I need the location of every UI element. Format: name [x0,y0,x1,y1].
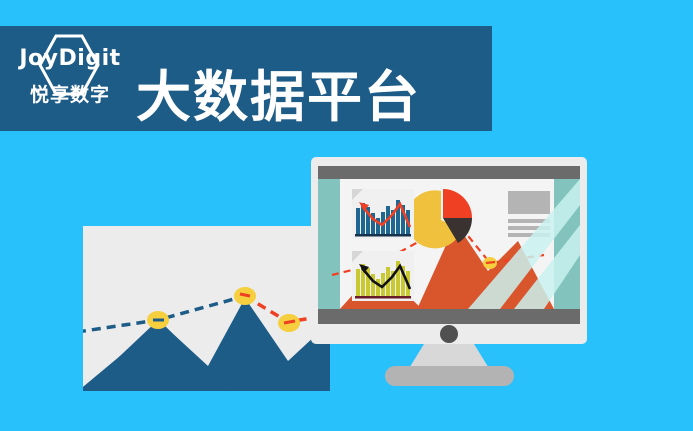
desktop-monitor [311,157,587,344]
image-placeholder [508,191,550,214]
olive-bar-chart-graphic [352,251,414,301]
baseline [355,296,411,299]
olive-bar-chart-card [352,251,414,301]
pie-chart [410,187,472,249]
page-title: 大数据平台 [136,70,421,125]
text-line [508,233,550,237]
monitor-top-bezel [318,166,580,179]
logo-subtitle: 悦享数字 [14,86,126,105]
monitor-screen [318,179,580,309]
text-line [508,226,550,230]
pie-slice-red [443,189,472,218]
header-banner: JoyDigit 悦享数字 大数据平台 [0,26,492,131]
monitor-bottom-bezel [318,309,580,324]
blue-bar-chart-card [352,189,414,239]
node-dash [284,321,295,323]
mountain-chart-graphic [83,226,330,391]
baseline [355,234,411,237]
monitor-base [385,366,514,386]
blue-bar-chart-graphic [352,189,414,239]
brand-logo: JoyDigit 悦享数字 [14,32,126,124]
poster-canvas: JoyDigit 悦享数字 大数据平台 [0,0,693,431]
mountain-shape [83,322,231,391]
node-dash [486,262,495,263]
power-button-icon[interactable] [440,325,458,343]
logo-wordmark: JoyDigit [14,48,126,70]
node-dash [240,294,250,296]
text-line [508,219,550,223]
mountain-chart-panel [83,226,330,391]
